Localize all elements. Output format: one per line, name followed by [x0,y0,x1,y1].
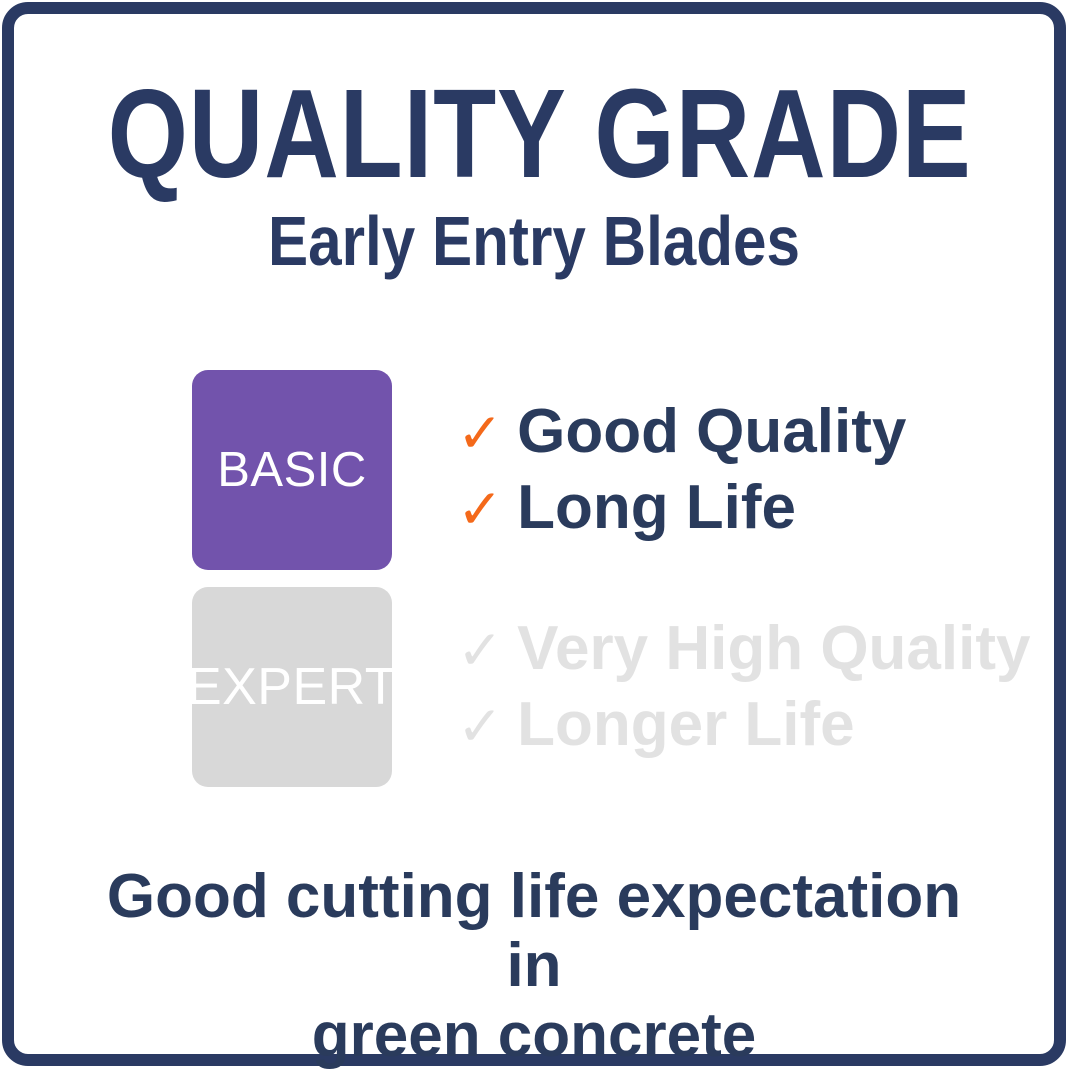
feature-label: Good Quality [517,401,906,463]
grade-badge-basic[interactable]: BASIC [192,370,392,570]
feature-list-basic: ✓ Good Quality ✓ Long Life [392,401,992,539]
feature-label: Longer Life [517,694,855,756]
caption-line-2: green concrete [84,1001,984,1070]
feature-label: Long Life [517,477,796,539]
caption-line-1: Good cutting life expectation in [84,862,984,1001]
feature-label: Very High Quality [517,618,1030,680]
page-subtitle: Early Entry Blades [87,205,981,279]
feature-item: ✓ Long Life [457,477,992,539]
grade-list: BASIC ✓ Good Quality ✓ Long Life EXPERT [192,370,992,787]
card-inner: QUALITY GRADE Early Entry Blades BASIC ✓… [14,14,1054,1054]
feature-list-expert: ✓ Very High Quality ✓ Longer Life [392,618,1030,756]
page-title: QUALITY GRADE [108,70,961,199]
quality-grade-card: QUALITY GRADE Early Entry Blades BASIC ✓… [2,2,1066,1066]
grade-row-basic: BASIC ✓ Good Quality ✓ Long Life [192,370,992,570]
check-mark-icon: ✓ [457,482,503,537]
grade-badge-expert[interactable]: EXPERT [192,587,392,787]
check-mark-icon: ✓ [457,406,503,461]
card-caption: Good cutting life expectation in green c… [84,862,984,1070]
card-header: QUALITY GRADE Early Entry Blades [14,70,1054,278]
grade-row-expert: EXPERT ✓ Very High Quality ✓ Longer Life [192,587,992,787]
feature-item: ✓ Very High Quality [457,618,1030,680]
feature-item: ✓ Longer Life [457,694,1030,756]
check-mark-icon: ✓ [457,623,503,678]
check-mark-icon: ✓ [457,699,503,754]
feature-item: ✓ Good Quality [457,401,992,463]
